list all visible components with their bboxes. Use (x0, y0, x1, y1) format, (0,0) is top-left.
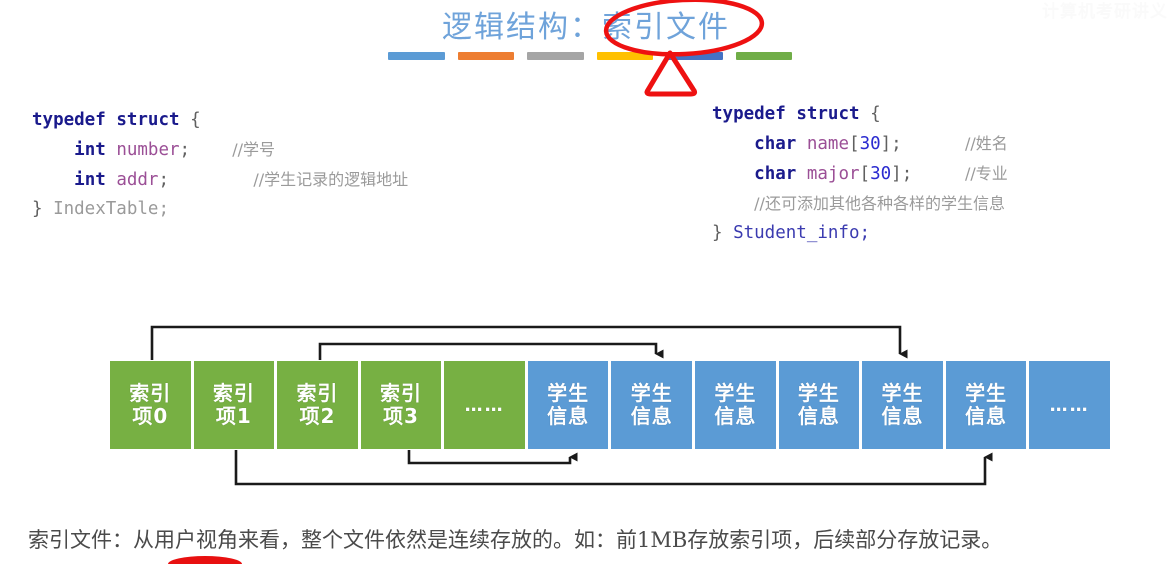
arrow-index3-to-record (409, 450, 570, 463)
caption-text: 索引文件：从用户视角来看，整个文件依然是连续存放的。如：前1MB存放索引项，后续… (28, 524, 1158, 554)
arrow-index1-to-record (236, 450, 985, 484)
arrow-index2-to-record (320, 344, 656, 360)
slide-canvas: 计算机考研讲义 逻辑结构：索引文件 typedef struct { int n… (0, 0, 1172, 564)
pointer-arrows (0, 0, 1172, 564)
